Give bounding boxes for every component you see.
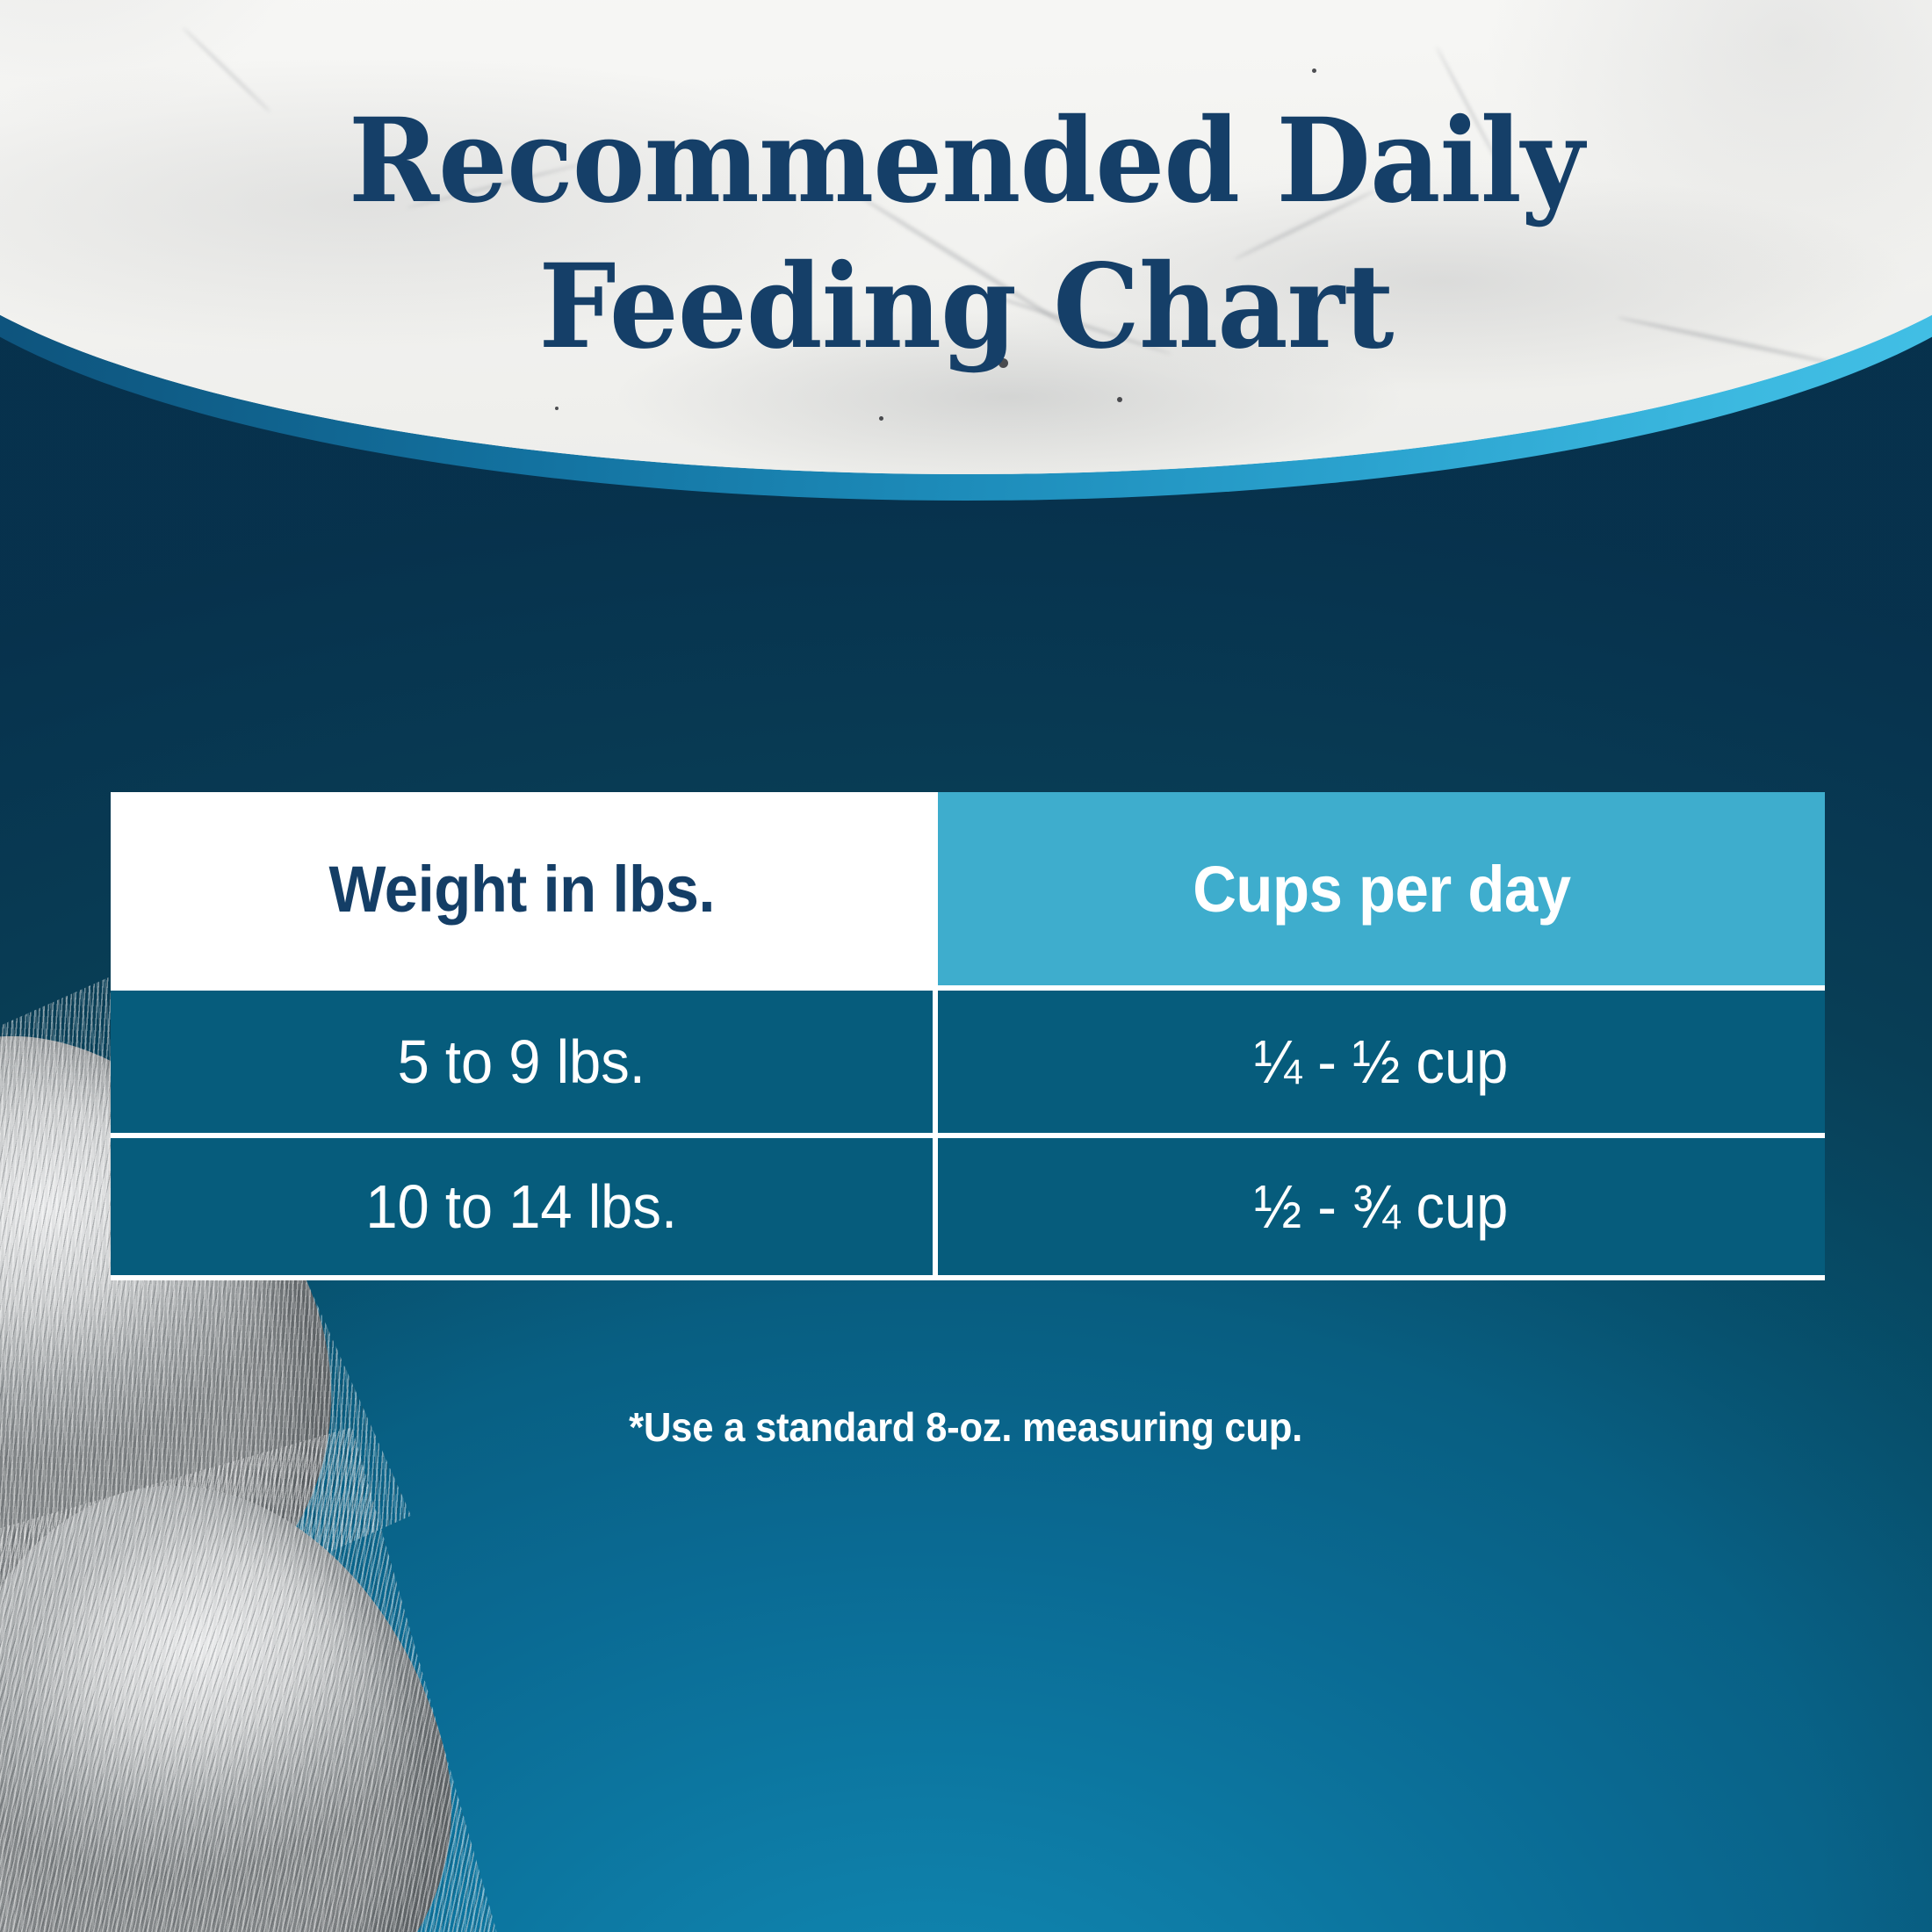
cell-cups-amount-value: ½ - ¾ cup: [1254, 1171, 1508, 1242]
cell-cups-amount: ¼ - ½ cup: [933, 985, 1825, 1133]
cell-weight-range: 10 to 14 lbs.: [111, 1133, 933, 1280]
title-line-2: Feeding Chart: [58, 249, 1874, 365]
feeding-chart-graphic: Recommended Daily Feeding Chart Weight i…: [0, 0, 1932, 1932]
table-row: 5 to 9 lbs. ¼ - ½ cup: [111, 985, 1825, 1133]
footnote-text: *Use a standard 8-oz. measuring cup.: [630, 1403, 1303, 1451]
cell-weight-range-value: 5 to 9 lbs.: [398, 1027, 645, 1097]
column-header-cups: Cups per day: [933, 792, 1825, 985]
cell-weight-range: 5 to 9 lbs.: [111, 985, 933, 1133]
title-line-1: Recommended Daily: [58, 104, 1874, 220]
cell-cups-amount-value: ¼ - ½ cup: [1254, 1027, 1508, 1097]
cell-weight-range-value: 10 to 14 lbs.: [366, 1171, 678, 1242]
column-header-weight-label: Weight in lbs.: [328, 852, 715, 926]
column-header-weight: Weight in lbs.: [111, 792, 933, 985]
page-title: Recommended Daily Feeding Chart: [0, 104, 1932, 365]
cell-cups-amount: ½ - ¾ cup: [933, 1133, 1825, 1280]
table-row: 10 to 14 lbs. ½ - ¾ cup: [111, 1133, 1825, 1280]
footnote: *Use a standard 8-oz. measuring cup.: [0, 1403, 1932, 1451]
feeding-table: Weight in lbs. Cups per day 5 to 9 lbs. …: [111, 792, 1825, 1280]
column-header-cups-label: Cups per day: [1193, 852, 1570, 926]
table-header-row: Weight in lbs. Cups per day: [111, 792, 1825, 985]
